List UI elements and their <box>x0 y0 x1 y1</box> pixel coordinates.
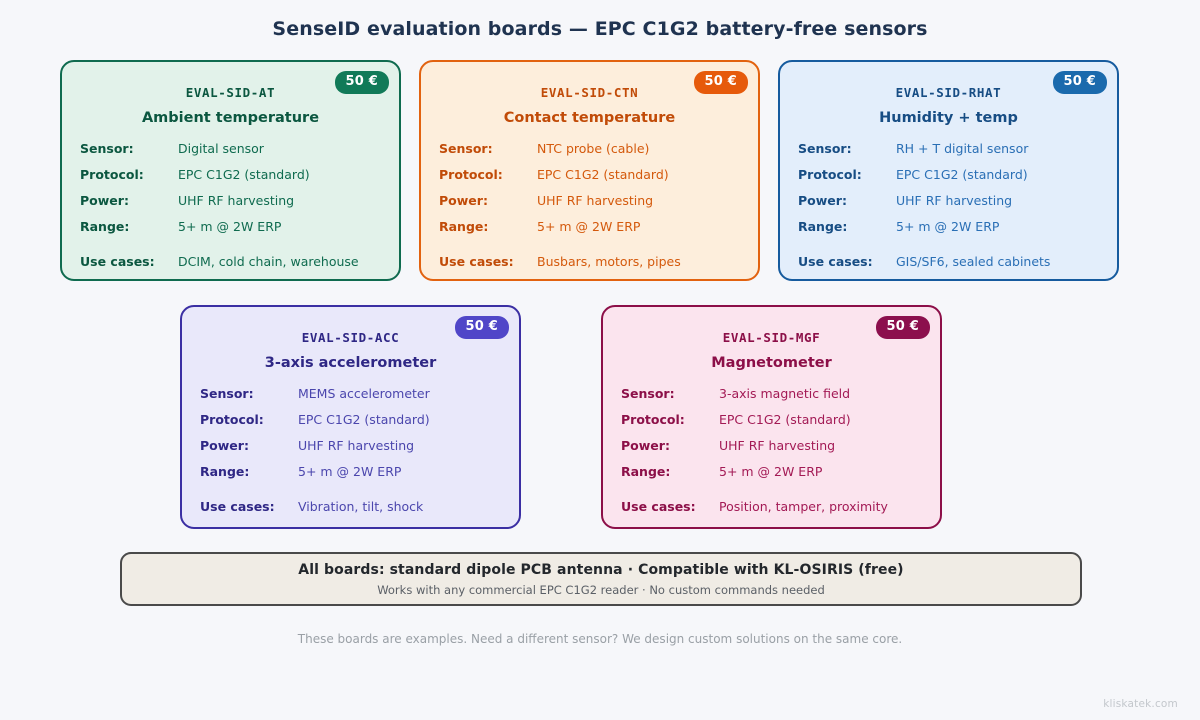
spec-label-sensor: Sensor: <box>200 387 298 413</box>
spec-row-range: Range: 5+ m @ 2W ERP <box>200 465 501 500</box>
board-title: Humidity + temp <box>798 110 1099 126</box>
spec-value-range: 5+ m @ 2W ERP <box>896 220 1099 255</box>
spec-value-use-cases: GIS/SF6, sealed cabinets <box>896 255 1099 281</box>
board-cards-row-bottom: 50 € EVAL-SID-ACC 3-axis accelerometer S… <box>180 305 942 529</box>
spec-row-sensor: Sensor: MEMS accelerometer <box>200 387 501 413</box>
spec-row-sensor: Sensor: NTC probe (cable) <box>439 142 740 168</box>
board-card-eval-sid-mgf[interactable]: 50 € EVAL-SID-MGF Magnetometer Sensor: 3… <box>601 305 942 529</box>
price-badge: 50 € <box>455 316 509 339</box>
spec-label-protocol: Protocol: <box>200 413 298 439</box>
spec-row-use-cases: Use cases: Position, tamper, proximity <box>621 500 922 526</box>
spec-table: Sensor: Digital sensor Protocol: EPC C1G… <box>80 142 381 281</box>
spec-row-sensor: Sensor: Digital sensor <box>80 142 381 168</box>
board-title: Magnetometer <box>621 355 922 371</box>
spec-label-power: Power: <box>798 194 896 220</box>
spec-row-protocol: Protocol: EPC C1G2 (standard) <box>200 413 501 439</box>
spec-row-use-cases: Use cases: GIS/SF6, sealed cabinets <box>798 255 1099 281</box>
spec-row-power: Power: UHF RF harvesting <box>200 439 501 465</box>
compatibility-banner: All boards: standard dipole PCB antenna … <box>120 552 1082 606</box>
spec-label-sensor: Sensor: <box>621 387 719 413</box>
spec-table: Sensor: MEMS accelerometer Protocol: EPC… <box>200 387 501 526</box>
board-cards-row-top: 50 € EVAL-SID-AT Ambient temperature Sen… <box>60 60 1119 281</box>
board-card-eval-sid-rhat[interactable]: 50 € EVAL-SID-RHAT Humidity + temp Senso… <box>778 60 1119 281</box>
board-title: Contact temperature <box>439 110 740 126</box>
spec-row-use-cases: Use cases: Busbars, motors, pipes <box>439 255 740 281</box>
spec-value-range: 5+ m @ 2W ERP <box>298 465 501 500</box>
spec-label-range: Range: <box>80 220 178 255</box>
spec-value-use-cases: Position, tamper, proximity <box>719 500 922 526</box>
banner-main-text: All boards: standard dipole PCB antenna … <box>298 562 903 578</box>
board-card-eval-sid-acc[interactable]: 50 € EVAL-SID-ACC 3-axis accelerometer S… <box>180 305 521 529</box>
page-title: SenseID evaluation boards — EPC C1G2 bat… <box>0 18 1200 40</box>
spec-value-protocol: EPC C1G2 (standard) <box>896 168 1099 194</box>
spec-value-range: 5+ m @ 2W ERP <box>178 220 381 255</box>
spec-row-power: Power: UHF RF harvesting <box>798 194 1099 220</box>
spec-value-power: UHF RF harvesting <box>298 439 501 465</box>
spec-label-protocol: Protocol: <box>621 413 719 439</box>
price-badge: 50 € <box>1053 71 1107 94</box>
spec-table: Sensor: RH + T digital sensor Protocol: … <box>798 142 1099 281</box>
spec-row-protocol: Protocol: EPC C1G2 (standard) <box>80 168 381 194</box>
spec-label-use-cases: Use cases: <box>80 255 178 281</box>
spec-value-use-cases: Vibration, tilt, shock <box>298 500 501 526</box>
board-title: 3-axis accelerometer <box>200 355 501 371</box>
spec-row-protocol: Protocol: EPC C1G2 (standard) <box>621 413 922 439</box>
spec-label-use-cases: Use cases: <box>621 500 719 526</box>
spec-table: Sensor: 3-axis magnetic field Protocol: … <box>621 387 922 526</box>
spec-row-range: Range: 5+ m @ 2W ERP <box>80 220 381 255</box>
spec-table: Sensor: NTC probe (cable) Protocol: EPC … <box>439 142 740 281</box>
spec-row-range: Range: 5+ m @ 2W ERP <box>621 465 922 500</box>
spec-value-sensor: Digital sensor <box>178 142 381 168</box>
spec-label-range: Range: <box>439 220 537 255</box>
spec-value-range: 5+ m @ 2W ERP <box>537 220 740 255</box>
spec-value-power: UHF RF harvesting <box>537 194 740 220</box>
spec-row-protocol: Protocol: EPC C1G2 (standard) <box>798 168 1099 194</box>
price-badge: 50 € <box>694 71 748 94</box>
spec-label-sensor: Sensor: <box>798 142 896 168</box>
spec-row-range: Range: 5+ m @ 2W ERP <box>439 220 740 255</box>
footer-note: These boards are examples. Need a differ… <box>0 632 1200 646</box>
spec-label-power: Power: <box>439 194 537 220</box>
spec-row-sensor: Sensor: 3-axis magnetic field <box>621 387 922 413</box>
spec-value-use-cases: DCIM, cold chain, warehouse <box>178 255 381 281</box>
spec-row-power: Power: UHF RF harvesting <box>439 194 740 220</box>
spec-value-power: UHF RF harvesting <box>719 439 922 465</box>
board-card-eval-sid-at[interactable]: 50 € EVAL-SID-AT Ambient temperature Sen… <box>60 60 401 281</box>
spec-row-protocol: Protocol: EPC C1G2 (standard) <box>439 168 740 194</box>
spec-label-protocol: Protocol: <box>439 168 537 194</box>
spec-value-sensor: RH + T digital sensor <box>896 142 1099 168</box>
spec-row-sensor: Sensor: RH + T digital sensor <box>798 142 1099 168</box>
spec-label-power: Power: <box>621 439 719 465</box>
spec-label-power: Power: <box>200 439 298 465</box>
spec-value-sensor: 3-axis magnetic field <box>719 387 922 413</box>
spec-value-protocol: EPC C1G2 (standard) <box>537 168 740 194</box>
board-card-eval-sid-ctn[interactable]: 50 € EVAL-SID-CTN Contact temperature Se… <box>419 60 760 281</box>
price-badge: 50 € <box>876 316 930 339</box>
spec-label-use-cases: Use cases: <box>200 500 298 526</box>
banner-sub-text: Works with any commercial EPC C1G2 reade… <box>377 583 825 597</box>
spec-label-use-cases: Use cases: <box>439 255 537 281</box>
spec-value-sensor: MEMS accelerometer <box>298 387 501 413</box>
spec-value-use-cases: Busbars, motors, pipes <box>537 255 740 281</box>
spec-label-power: Power: <box>80 194 178 220</box>
spec-label-range: Range: <box>200 465 298 500</box>
spec-row-power: Power: UHF RF harvesting <box>621 439 922 465</box>
spec-label-sensor: Sensor: <box>439 142 537 168</box>
spec-row-power: Power: UHF RF harvesting <box>80 194 381 220</box>
spec-value-protocol: EPC C1G2 (standard) <box>298 413 501 439</box>
spec-row-use-cases: Use cases: DCIM, cold chain, warehouse <box>80 255 381 281</box>
board-title: Ambient temperature <box>80 110 381 126</box>
spec-row-range: Range: 5+ m @ 2W ERP <box>798 220 1099 255</box>
spec-value-protocol: EPC C1G2 (standard) <box>719 413 922 439</box>
spec-label-sensor: Sensor: <box>80 142 178 168</box>
spec-label-protocol: Protocol: <box>798 168 896 194</box>
spec-label-range: Range: <box>798 220 896 255</box>
spec-value-range: 5+ m @ 2W ERP <box>719 465 922 500</box>
spec-value-protocol: EPC C1G2 (standard) <box>178 168 381 194</box>
spec-label-protocol: Protocol: <box>80 168 178 194</box>
spec-label-range: Range: <box>621 465 719 500</box>
spec-value-power: UHF RF harvesting <box>896 194 1099 220</box>
price-badge: 50 € <box>335 71 389 94</box>
spec-value-power: UHF RF harvesting <box>178 194 381 220</box>
spec-value-sensor: NTC probe (cable) <box>537 142 740 168</box>
watermark: kliskatek.com <box>1103 698 1178 710</box>
spec-row-use-cases: Use cases: Vibration, tilt, shock <box>200 500 501 526</box>
spec-label-use-cases: Use cases: <box>798 255 896 281</box>
